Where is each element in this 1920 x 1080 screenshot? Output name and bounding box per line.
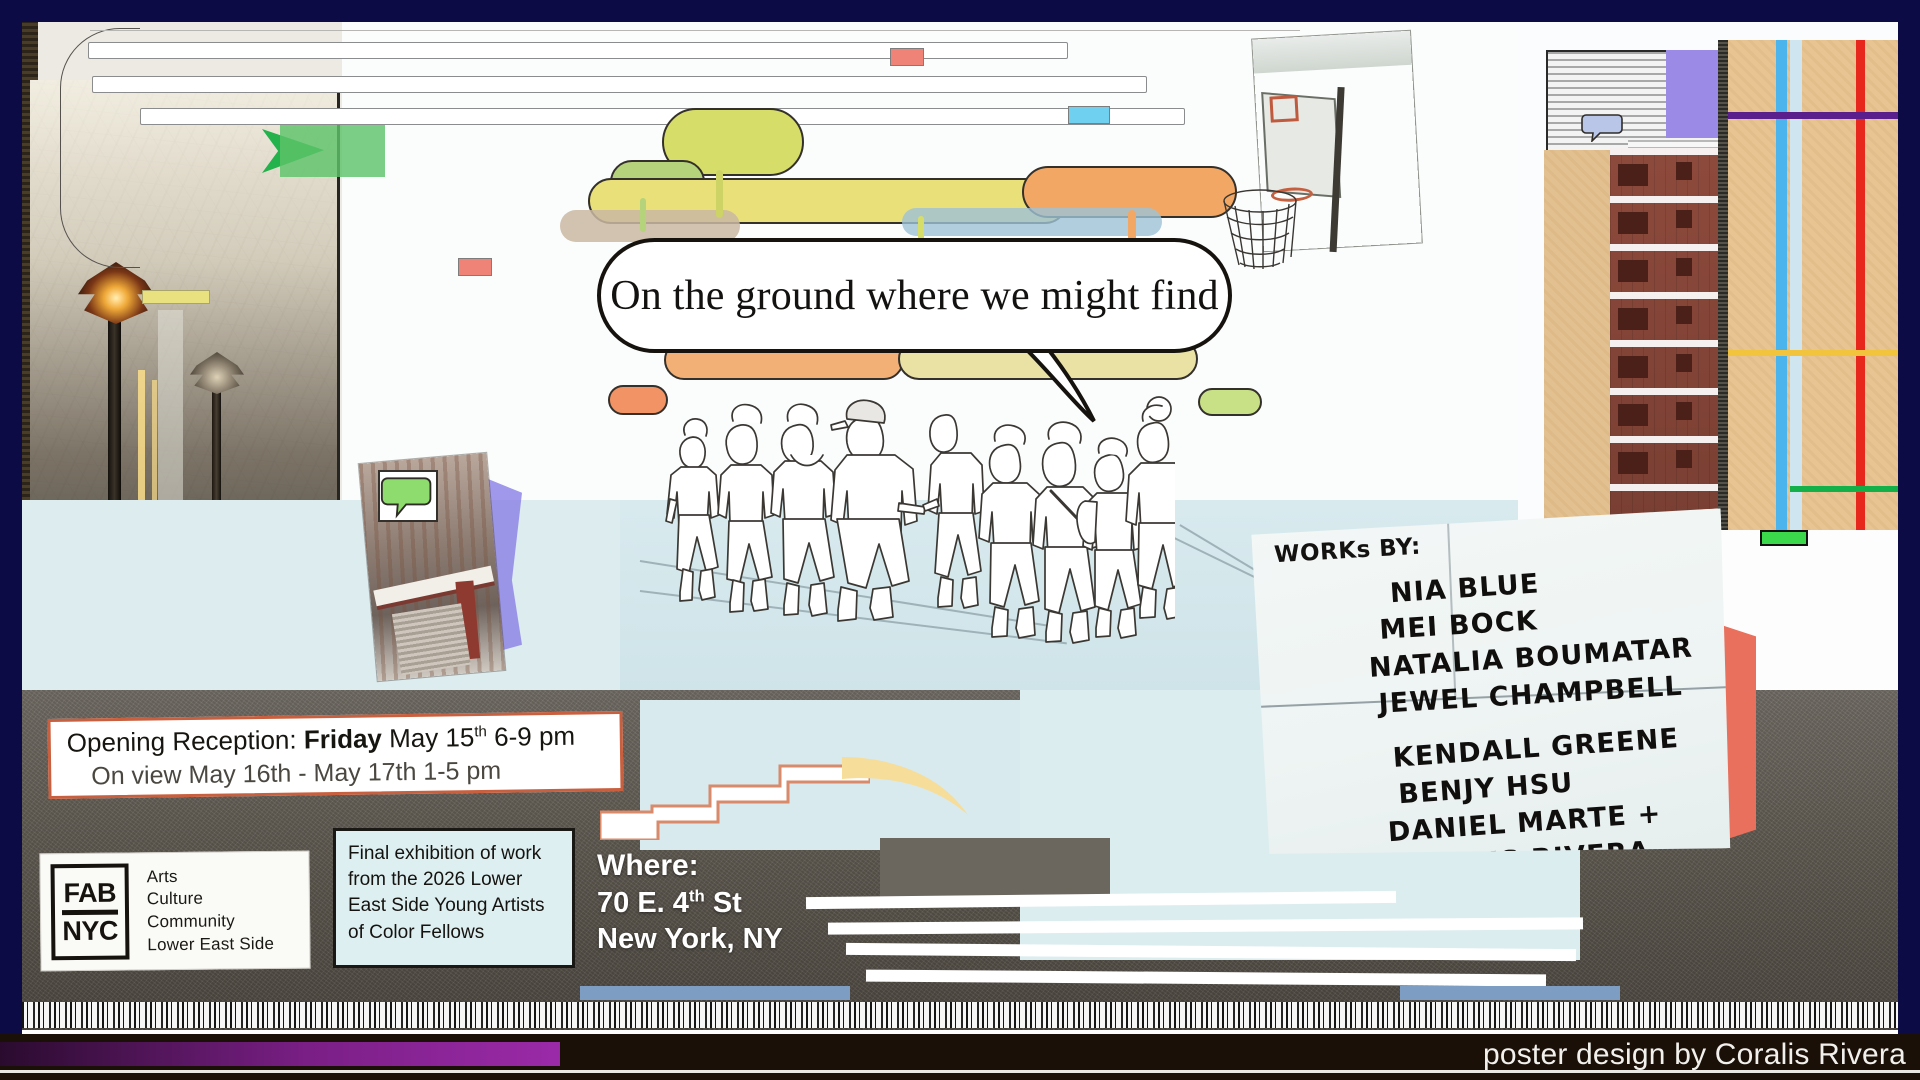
- page-title: On the ground where we might find: [610, 272, 1218, 320]
- reception-label: Opening Reception:: [67, 725, 297, 758]
- speech-bubble-icon: [380, 472, 436, 520]
- window: [1676, 354, 1692, 372]
- window: [1676, 162, 1692, 180]
- logo-text-fab: FAB: [63, 879, 116, 907]
- speech-bubble-icon-blue: [1580, 112, 1624, 142]
- window: [1676, 450, 1692, 468]
- outline-curve-decoration: [60, 28, 140, 268]
- window: [1618, 308, 1648, 330]
- green-marker-block: [1760, 530, 1808, 546]
- reception-time: 6-9 pm: [487, 721, 576, 752]
- poster-canvas: On the ground where we might find: [0, 0, 1920, 1080]
- hairline-top: [90, 30, 1300, 31]
- exhibition-description-box: Final exhibition of work from the 2026 L…: [333, 828, 575, 968]
- exhibition-description-text: Final exhibition of work from the 2026 L…: [348, 841, 560, 946]
- chip-blue: [1068, 106, 1110, 124]
- navy-top-border: [0, 0, 1920, 22]
- group-of-figures-sketch: [655, 395, 1175, 665]
- bubble-stem-2: [716, 170, 723, 218]
- logo-divider: [62, 909, 118, 915]
- window: [1618, 452, 1648, 474]
- poster-credit: poster design by Coralis Rivera: [1483, 1038, 1906, 1072]
- yellow-horizontal-stripe: [1728, 350, 1898, 356]
- speech-bubble-icon-frame: [378, 470, 438, 522]
- store-security-gate: [392, 603, 471, 675]
- artist-name-list: NIA BLUE MEI BOCK NATALIA BOUMATAR JEWEL…: [1365, 561, 1728, 881]
- window: [1618, 260, 1648, 282]
- window: [1676, 210, 1692, 228]
- chip-salmon-top: [890, 48, 924, 66]
- window: [1618, 356, 1648, 378]
- reception-date: May 15: [382, 722, 475, 753]
- venue-street-number: 70 E. 4: [597, 887, 689, 919]
- outline-bar-3: [140, 108, 1185, 125]
- store-awning: [373, 566, 494, 607]
- venue-label: Where:: [597, 848, 897, 885]
- venue-street: 70 E. 4th St: [597, 885, 897, 921]
- tagline-line-1: Arts: [147, 865, 274, 887]
- green-rectangle-block: [280, 125, 385, 177]
- purple-accent-block: [1666, 50, 1718, 138]
- works-by-paper: WORKs BY: NIA BLUE MEI BOCK NATALIA BOUM…: [1251, 508, 1735, 867]
- main-title-bubble: On the ground where we might find: [597, 238, 1232, 353]
- credit-purple-accent: [0, 1042, 560, 1066]
- venue-city: New York, NY: [597, 921, 897, 957]
- window: [1676, 402, 1692, 420]
- step-block-upper: [880, 838, 1110, 898]
- outline-bar-2: [92, 76, 1147, 93]
- venue-block: Where: 70 E. 4th St New York, NY: [597, 848, 897, 957]
- on-view-dates: On view May 16th - May 17th 1-5 pm: [67, 755, 606, 792]
- yellow-swoosh-shape: [840, 745, 970, 825]
- barcode-strip: [22, 1002, 1898, 1028]
- opening-reception-panel: Opening Reception: Friday May 15th 6-9 p…: [47, 711, 623, 799]
- venue-street-suffix: th: [689, 886, 705, 905]
- green-horizontal-stripe: [1790, 486, 1898, 492]
- logo-text-nyc: NYC: [62, 917, 118, 945]
- blue-step-accent-right: [1400, 986, 1620, 1000]
- window: [1676, 258, 1692, 276]
- venue-street-type: St: [705, 887, 742, 919]
- bubble-stem-3: [640, 198, 646, 232]
- chip-salmon-left: [458, 258, 492, 276]
- fab-nyc-tagline: Arts Culture Community Lower East Side: [147, 865, 275, 955]
- backboard-square: [1269, 95, 1298, 123]
- navy-right-border: [1898, 0, 1920, 1080]
- fab-nyc-logo: FAB NYC Arts Culture Community Lower Eas…: [39, 851, 310, 972]
- tagline-line-4: Lower East Side: [147, 934, 274, 956]
- reception-date-suffix: th: [474, 723, 487, 740]
- window: [1618, 404, 1648, 426]
- purple-horizontal-stripe: [1728, 112, 1898, 119]
- brick-apartment-building: [1610, 148, 1720, 518]
- window: [1618, 212, 1648, 234]
- fab-nyc-mark: FAB NYC: [51, 863, 130, 960]
- stepped-white-shape: [600, 760, 870, 840]
- tagline-line-2: Culture: [147, 888, 274, 910]
- tagline-line-3: Community: [147, 911, 274, 933]
- right-building-column: [1518, 20, 1898, 530]
- title-bubble-tail: [1022, 345, 1112, 425]
- window: [1676, 306, 1692, 324]
- speech-bubble-blue-bar: [902, 208, 1162, 236]
- speech-bubble-green-tiny: [1198, 388, 1262, 416]
- blue-step-accent-left: [580, 986, 850, 1000]
- yellow-chip-left: [142, 290, 210, 304]
- works-by-header: WORKs BY:: [1273, 534, 1421, 569]
- reception-day: Friday: [304, 723, 382, 754]
- window: [1618, 164, 1648, 186]
- navy-left-border: [0, 0, 22, 1080]
- reception-line-1: Opening Reception: Friday May 15th 6-9 p…: [67, 720, 606, 759]
- streetlamp-icon-secondary: [190, 352, 244, 394]
